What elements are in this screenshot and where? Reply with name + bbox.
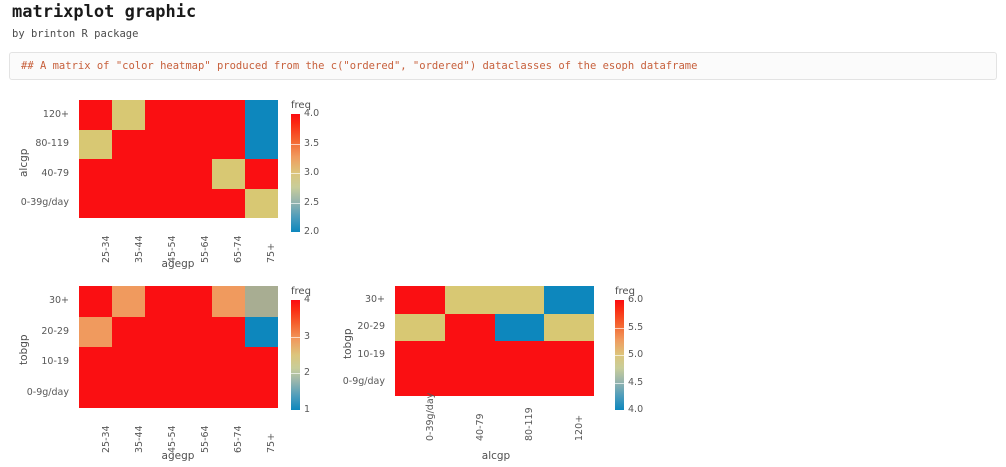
x-axis-title: agegp: [162, 258, 195, 270]
heatmap-cell[interactable]: [112, 347, 145, 378]
heatmap-cell[interactable]: [145, 159, 178, 189]
y-tick-label: 30+: [330, 294, 390, 305]
x-tick-label: 65-74: [233, 425, 244, 453]
colorbar-tick-label: 4.0: [628, 404, 643, 415]
x-axis-title: agegp: [162, 450, 195, 462]
x-tick-label: 40-79: [475, 413, 486, 441]
x-tick-label: 55-64: [200, 235, 211, 263]
heatmap-cell[interactable]: [145, 130, 178, 160]
heatmap-cell[interactable]: [179, 130, 212, 160]
heatmap-cell[interactable]: [212, 378, 245, 409]
heatmap-cell[interactable]: [112, 130, 145, 160]
page-title: matrixplot graphic: [12, 2, 196, 22]
x-tick-label: 120+: [574, 415, 585, 441]
heatmap-cell[interactable]: [79, 378, 112, 409]
heatmap-cell[interactable]: [179, 347, 212, 378]
heatmap-cell[interactable]: [445, 369, 495, 397]
heatmap-cell[interactable]: [395, 369, 445, 397]
colorbar-tick-label: 5.5: [628, 322, 643, 333]
heatmap-cell[interactable]: [79, 100, 112, 130]
heatmap-cell[interactable]: [179, 100, 212, 130]
heatmap-cell[interactable]: [112, 317, 145, 348]
y-tick-label: 20-29: [0, 326, 74, 337]
heatmap-cell[interactable]: [245, 159, 278, 189]
heatmap-cell[interactable]: [112, 100, 145, 130]
y-tick-label: 10-19: [330, 349, 390, 360]
x-axis-title: alcgp: [482, 450, 510, 462]
heatmap-cell[interactable]: [245, 378, 278, 409]
colorbar-tick-label: 3.5: [304, 138, 319, 149]
x-tick-label: 25-34: [101, 235, 112, 263]
colorbar-tick-label: 6.0: [628, 294, 643, 305]
colorbar-tick-mark: [291, 337, 300, 338]
colorbar-tick-label: 1: [304, 404, 310, 415]
colorbar-tick-mark: [615, 383, 624, 384]
colorbar-tick-label: 2: [304, 367, 310, 378]
heatmap-alcgp-agegp: 120+80-11940-790-39g/dayalcgp25-3435-444…: [0, 95, 330, 275]
colorbar-tick-mark: [615, 355, 624, 356]
heatmap-grid: [79, 100, 278, 218]
colorbar-tick-label: 2.0: [304, 226, 319, 237]
x-tick-label: 75+: [266, 433, 277, 453]
heatmap-cell[interactable]: [179, 189, 212, 219]
x-tick-label: 35-44: [134, 425, 145, 453]
heatmap-cell[interactable]: [79, 286, 112, 317]
y-tick-label: 0-39g/day: [0, 197, 74, 208]
heatmap-grid: [395, 286, 594, 396]
heatmap-cell[interactable]: [145, 286, 178, 317]
x-tick-label: 45-54: [167, 425, 178, 453]
heatmap-cell[interactable]: [145, 189, 178, 219]
x-tick-label: 80-119: [524, 407, 535, 441]
heatmap-cell[interactable]: [245, 286, 278, 317]
y-tick-label: 0-9g/day: [0, 387, 74, 398]
colorbar-tick-label: 3.0: [304, 167, 319, 178]
heatmap-cell[interactable]: [445, 286, 495, 314]
y-tick-label: 80-119: [0, 138, 74, 149]
heatmap-cell[interactable]: [79, 159, 112, 189]
x-tick-label: 0-39g/day: [425, 393, 436, 441]
heatmap-cell[interactable]: [145, 378, 178, 409]
heatmap-cell[interactable]: [445, 314, 495, 342]
heatmap-cell[interactable]: [495, 314, 545, 342]
colorbar-tick-mark: [615, 328, 624, 329]
colorbar-tick-mark: [291, 203, 300, 204]
heatmap-cell[interactable]: [495, 369, 545, 397]
colorbar-tick-label: 4.0: [304, 108, 319, 119]
heatmap-cell[interactable]: [544, 286, 594, 314]
x-tick-label: 25-34: [101, 425, 112, 453]
heatmap-cell[interactable]: [179, 286, 212, 317]
heatmap-cell[interactable]: [112, 378, 145, 409]
y-tick-label: 30+: [0, 295, 74, 306]
colorbar-gradient: [291, 300, 300, 410]
colorbar-tick-mark: [291, 144, 300, 145]
heatmap-cell[interactable]: [79, 130, 112, 160]
heatmap-tobgp-alcgp: 30+20-2910-190-9g/daytobgp0-39g/day40-79…: [330, 278, 670, 467]
y-tick-label: 0-9g/day: [330, 376, 390, 387]
code-output-box: ## A matrix of "color heatmap" produced …: [9, 52, 997, 80]
x-tick-label: 55-64: [200, 425, 211, 453]
x-tick-label: 75+: [266, 243, 277, 263]
heatmap-cell[interactable]: [79, 347, 112, 378]
heatmap-cell[interactable]: [212, 189, 245, 219]
colorbar-tick-label: 2.5: [304, 197, 319, 208]
code-comment-text: ## A matrix of "color heatmap" produced …: [21, 60, 697, 72]
colorbar-tick-mark: [291, 173, 300, 174]
x-tick-label: 35-44: [134, 235, 145, 263]
heatmap-grid: [79, 286, 278, 408]
heatmap-cell[interactable]: [112, 159, 145, 189]
heatmap-cell[interactable]: [112, 189, 145, 219]
y-tick-label: 20-29: [330, 321, 390, 332]
heatmap-cell[interactable]: [145, 347, 178, 378]
heatmap-cell[interactable]: [112, 286, 145, 317]
heatmap-cell[interactable]: [245, 100, 278, 130]
y-tick-label: 10-19: [0, 356, 74, 367]
heatmap-cell[interactable]: [145, 317, 178, 348]
colorbar-tick-label: 3: [304, 331, 310, 342]
heatmap-cell[interactable]: [395, 286, 445, 314]
heatmap-cell[interactable]: [212, 286, 245, 317]
heatmap-cell[interactable]: [395, 314, 445, 342]
heatmap-tobgp-agegp: 30+20-2910-190-9g/daytobgp25-3435-4445-5…: [0, 278, 330, 467]
x-tick-label: 65-74: [233, 235, 244, 263]
y-tick-label: 120+: [0, 109, 74, 120]
y-axis-title: alcgp: [18, 149, 30, 177]
y-tick-label: 40-79: [0, 168, 74, 179]
page-subtitle: by brinton R package: [12, 28, 138, 40]
colorbar-tick-mark: [291, 373, 300, 374]
page-root: matrixplot graphic by brinton R package …: [0, 0, 1006, 467]
y-axis-title: tobgp: [18, 334, 30, 365]
colorbar-tick-label: 5.0: [628, 349, 643, 360]
colorbar-tick-label: 4: [304, 294, 310, 305]
heatmap-cell[interactable]: [179, 159, 212, 189]
heatmap-cell[interactable]: [544, 341, 594, 369]
heatmap-cell[interactable]: [544, 369, 594, 397]
heatmap-cell[interactable]: [179, 317, 212, 348]
heatmap-cell[interactable]: [145, 100, 178, 130]
heatmap-cell[interactable]: [212, 317, 245, 348]
y-axis-title: tobgp: [342, 328, 354, 359]
heatmap-cell[interactable]: [245, 347, 278, 378]
heatmap-cell[interactable]: [495, 341, 545, 369]
heatmap-cell[interactable]: [212, 100, 245, 130]
colorbar-tick-label: 4.5: [628, 377, 643, 388]
heatmap-cell[interactable]: [445, 341, 495, 369]
heatmap-cell[interactable]: [544, 314, 594, 342]
heatmap-cell[interactable]: [79, 189, 112, 219]
heatmap-cell[interactable]: [179, 378, 212, 409]
heatmap-cell[interactable]: [79, 317, 112, 348]
heatmap-cell[interactable]: [395, 341, 445, 369]
heatmap-cell[interactable]: [212, 347, 245, 378]
heatmap-cell[interactable]: [245, 317, 278, 348]
heatmap-cell[interactable]: [212, 130, 245, 160]
heatmap-cell[interactable]: [212, 159, 245, 189]
heatmap-cell[interactable]: [245, 130, 278, 160]
heatmap-cell[interactable]: [245, 189, 278, 219]
heatmap-cell[interactable]: [495, 286, 545, 314]
